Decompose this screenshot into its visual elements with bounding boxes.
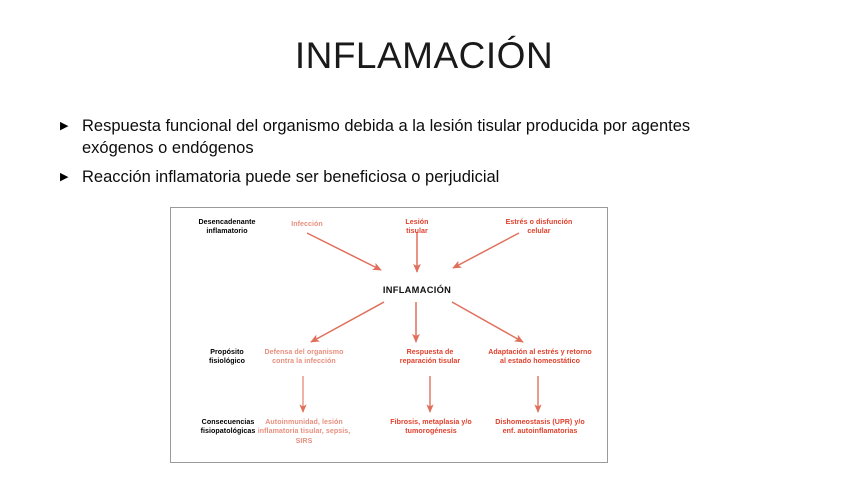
arrow-inflamacion-to-defensa — [311, 302, 384, 342]
arrow-infeccion-to-inflamacion — [307, 233, 381, 270]
list-item-text: Respuesta funcional del organismo debida… — [82, 115, 756, 159]
bullet-triangle-icon: ▶ — [56, 115, 82, 137]
bullet-list: ▶ Respuesta funcional del organismo debi… — [56, 115, 756, 195]
node-adaptacion-estres: Adaptación al estrés y retornoal estado … — [475, 348, 605, 367]
inflammation-flow-diagram: Desencadenanteinflamatorio Infección Les… — [170, 207, 608, 463]
arrow-estres-to-inflamacion — [453, 233, 519, 268]
list-item: ▶ Reacción inflamatoria puede ser benefi… — [56, 166, 756, 188]
list-item: ▶ Respuesta funcional del organismo debi… — [56, 115, 756, 159]
node-respuesta-reparacion-tisular: Respuesta dereparación tisular — [377, 348, 483, 367]
bullet-triangle-icon: ▶ — [56, 166, 82, 188]
node-lesion-tisular: Lesióntisular — [379, 218, 455, 237]
node-autoinmunidad: Autoinmunidad, lesióninflamatoria tisula… — [243, 418, 365, 446]
node-estres-disfuncion-celular: Estrés o disfuncióncelular — [483, 218, 595, 237]
node-infeccion: Infección — [265, 220, 349, 229]
node-fibrosis-metaplasia: Fibrosis, metaplasia y/otumorogénesis — [373, 418, 489, 437]
page-title: INFLAMACIÓN — [0, 36, 848, 77]
list-item-text: Reacción inflamatoria puede ser benefici… — [82, 166, 756, 188]
row-label-desencadenante-inflamatorio: Desencadenanteinflamatorio — [177, 218, 277, 237]
node-defensa-organismo: Defensa del organismocontra la infección — [243, 348, 365, 367]
node-dishomeostasis: Dishomeostasis (UPR) y/oenf. autoinflama… — [479, 418, 601, 437]
node-inflamacion-center: INFLAMACIÓN — [356, 284, 478, 296]
arrow-inflamacion-to-adaptacion — [452, 302, 523, 342]
